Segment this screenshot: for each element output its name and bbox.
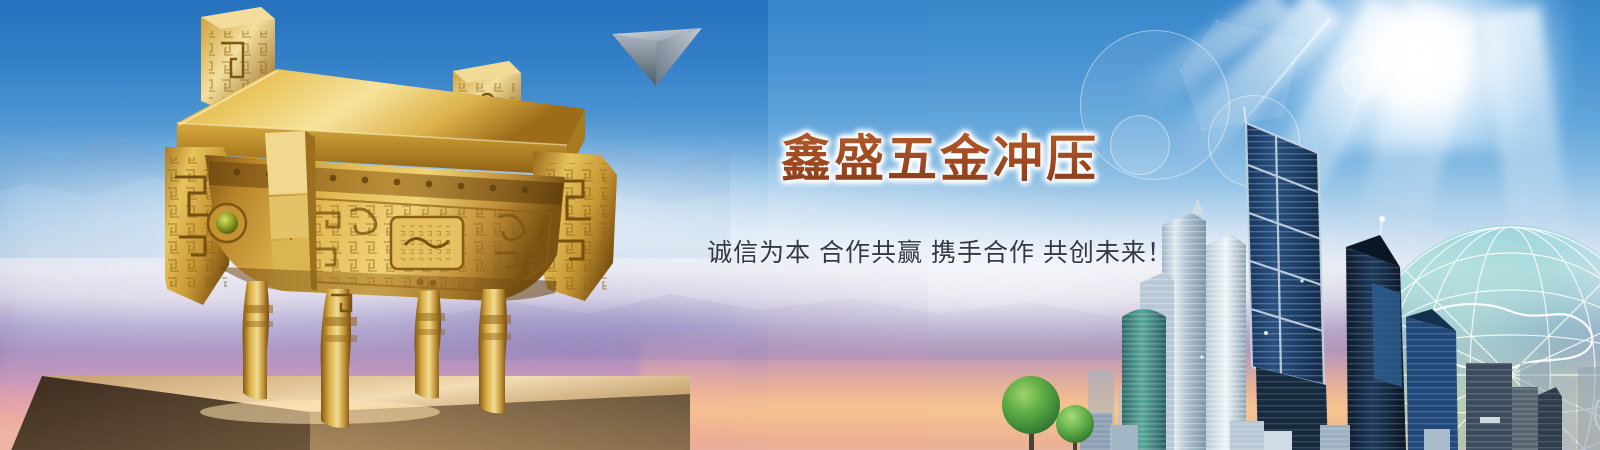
ding-leg xyxy=(321,289,357,428)
ding-leg xyxy=(479,289,512,413)
ding-leg xyxy=(415,290,446,398)
promo-banner: 鑫盛五金冲压 诚信为本 合作共赢 携手合作 共创未来！ xyxy=(0,0,1600,450)
bokeh-circle xyxy=(1341,55,1385,99)
banner-text-block: 鑫盛五金冲压 诚信为本 合作共赢 携手合作 共创未来！ xyxy=(700,132,1180,269)
tree-icon xyxy=(985,360,1105,450)
ding-leg xyxy=(243,281,274,399)
tagline: 诚信为本 合作共赢 携手合作 共创未来！ xyxy=(700,233,1180,269)
golden-ding-vessel-icon xyxy=(165,5,645,430)
page-title: 鑫盛五金冲压 xyxy=(700,132,1180,187)
